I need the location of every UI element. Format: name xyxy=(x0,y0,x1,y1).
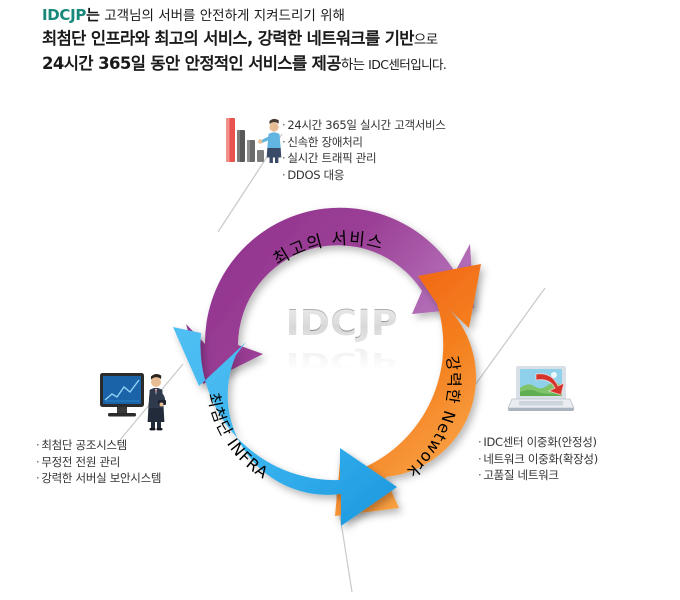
cycle-diagram: 최고의 서비스 강력한 Network 최첨단 INFRA IDCJP IDCJ… xyxy=(0,92,680,600)
brand-name: IDCJP xyxy=(42,6,86,24)
list-item-label: 최첨단 공조시스템 xyxy=(41,438,127,452)
header-line-1-rest: 고객님의 서버를 안전하게 지켜드리기 위해 xyxy=(100,8,345,24)
callout-left-bullets: ·최첨단 공조시스템 ·무정전 전원 관리 ·강력한 서버실 보안시스템 xyxy=(36,437,161,487)
callout-right-bullets: ·IDC센터 이중화(안정성) ·네트워크 이중화(확장성) ·고품질 네트워크 xyxy=(478,434,598,484)
list-item: ·IDC센터 이중화(안정성) xyxy=(478,434,598,451)
bullet-marker: · xyxy=(478,452,481,466)
bullet-marker: · xyxy=(282,135,285,149)
callout-top: ·24시간 365일 실시간 고객서비스 ·신속한 장애처리 ·실시간 트래픽 … xyxy=(282,117,446,183)
header-line-2-bold: 최첨단 인프라와 최고의 서비스, 강력한 네트워크를 기반 xyxy=(42,29,414,48)
list-item-label: 강력한 서버실 보안시스템 xyxy=(41,471,161,485)
callout-right: ·IDC센터 이중화(안정성) ·네트워크 이중화(확장성) ·고품질 네트워크 xyxy=(478,434,598,484)
list-item-label: 네트워크 이중화(확장성) xyxy=(483,452,598,466)
bullet-marker: · xyxy=(36,471,39,485)
bullet-marker: · xyxy=(36,438,39,452)
list-item: ·DDOS 대응 xyxy=(282,167,446,184)
callout-top-bullets: ·24시간 365일 실시간 고객서비스 ·신속한 장애처리 ·실시간 트래픽 … xyxy=(282,117,446,183)
list-item: ·실시간 트래픽 관리 xyxy=(282,150,446,167)
header-line-3: 24시간 365일 동안 안정적인 서비스를 제공하는 IDC센터입니다. xyxy=(42,52,642,77)
header-line-2: 최첨단 인프라와 최고의 서비스, 강력한 네트워크를 기반으로 xyxy=(42,27,642,52)
list-item: ·고품질 네트워크 xyxy=(478,467,598,484)
list-item: ·신속한 장애처리 xyxy=(282,134,446,151)
bullet-marker: · xyxy=(36,455,39,469)
bullet-marker: · xyxy=(282,168,285,182)
list-item: ·무정전 전원 관리 xyxy=(36,454,161,471)
list-item: ·강력한 서버실 보안시스템 xyxy=(36,470,161,487)
header-line-3-thin: 하는 xyxy=(341,57,368,73)
list-item-label: IDC센터 이중화(안정성) xyxy=(483,435,596,449)
list-item-label: DDOS 대응 xyxy=(287,168,344,182)
brand-particle: 는 xyxy=(86,6,100,24)
bar-chart-presenter-icon xyxy=(222,110,284,172)
list-item-label: 무정전 전원 관리 xyxy=(41,455,120,469)
list-item: ·최첨단 공조시스템 xyxy=(36,437,161,454)
header-line-1: IDCJP는 고객님의 서버를 안전하게 지켜드리기 위해 xyxy=(42,4,642,27)
list-item: ·24시간 365일 실시간 고객서비스 xyxy=(282,117,446,134)
list-item-label: 신속한 장애처리 xyxy=(287,135,362,149)
header-line-3-bold: 24시간 365일 동안 안정적인 서비스를 제공 xyxy=(42,54,341,73)
callout-left: ·최첨단 공조시스템 ·무정전 전원 관리 ·강력한 서버실 보안시스템 xyxy=(36,437,161,487)
list-item: ·네트워크 이중화(확장성) xyxy=(478,451,598,468)
list-item-label: 고품질 네트워크 xyxy=(483,468,558,482)
connector-lines xyxy=(120,134,545,592)
list-item-label: 24시간 365일 실시간 고객서비스 xyxy=(287,118,445,132)
arc-service-purple xyxy=(186,208,474,384)
bullet-marker: · xyxy=(478,435,481,449)
laptop-arrow-icon xyxy=(506,362,576,422)
header-line-2-thin: 으로 xyxy=(414,32,438,48)
bullet-marker: · xyxy=(478,468,481,482)
bullet-marker: · xyxy=(282,151,285,165)
bullet-marker: · xyxy=(282,118,285,132)
list-item-label: 실시간 트래픽 관리 xyxy=(287,151,376,165)
header-copy: IDCJP는 고객님의 서버를 안전하게 지켜드리기 위해 최첨단 인프라와 최… xyxy=(42,4,642,77)
header-line-3-small: IDC센터입니다. xyxy=(368,57,446,72)
arc-label-infra: 최첨단 INFRA xyxy=(204,391,272,483)
monitor-businessman-icon xyxy=(98,367,174,435)
